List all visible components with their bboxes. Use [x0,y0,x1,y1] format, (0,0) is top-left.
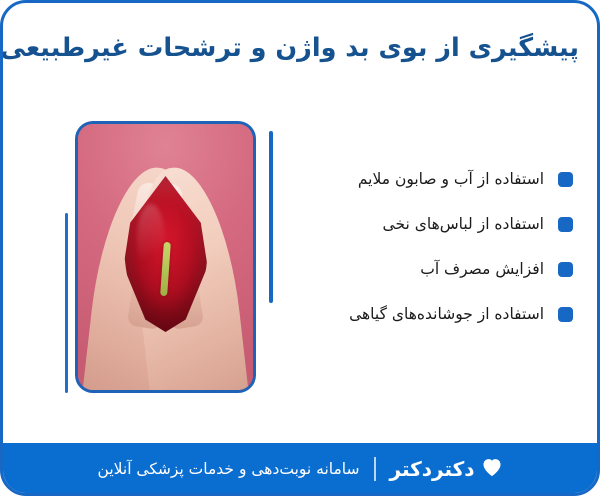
list-item: افزایش مصرف آب [273,247,573,292]
brand-logo[interactable]: دکتردکتر [390,457,503,481]
list-item-label: استفاده از جوشانده‌های گیاهی [349,304,544,324]
square-bullet-icon [558,217,573,232]
page-title: پیشگیری از بوی بد واژن و ترشحات غیرطبیعی [21,33,579,65]
footer-divider [374,457,376,481]
list-item-label: استفاده از آب و صابون ملایم [358,169,544,189]
photo-frame [75,121,256,393]
tips-list: استفاده از آب و صابون ملایم استفاده از ل… [273,157,573,337]
title-container: پیشگیری از بوی بد واژن و ترشحات غیرطبیعی [3,33,597,65]
list-item: استفاده از آب و صابون ملایم [273,157,573,202]
infographic-card: پیشگیری از بوی بد واژن و ترشحات غیرطبیعی [0,0,600,496]
accent-bar-left [65,213,68,393]
square-bullet-icon [558,262,573,277]
list-item-label: افزایش مصرف آب [420,259,544,279]
footer-tagline: سامانه نوبت‌دهی و خدمات پزشکی آنلاین [98,460,360,478]
photo-image [78,124,253,390]
list-item-label: استفاده از لباس‌های نخی [383,214,544,234]
square-bullet-icon [558,172,573,187]
list-item: استفاده از جوشانده‌های گیاهی [273,292,573,337]
heart-icon [481,457,503,481]
footer-bar: دکتردکتر سامانه نوبت‌دهی و خدمات پزشکی آ… [1,443,599,495]
list-item: استفاده از لباس‌های نخی [273,202,573,247]
brand-name-label: دکتردکتر [390,457,475,481]
main-content: استفاده از آب و صابون ملایم استفاده از ل… [3,113,597,413]
flower-highlight [137,204,166,276]
anthurium-flower-icon [124,176,208,332]
square-bullet-icon [558,307,573,322]
